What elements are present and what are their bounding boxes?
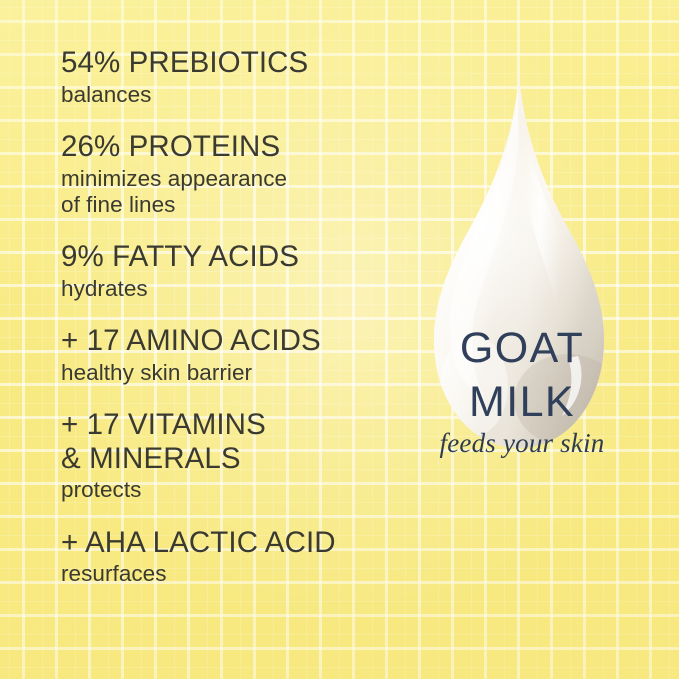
ingredient-item-vitamins-minerals: + 17 VITAMINS & MINERALS protects	[61, 408, 381, 504]
ingredient-item-proteins: 26% PROTEINS minimizes appearance of fin…	[61, 130, 381, 218]
ingredient-benefit: minimizes appearance of fine lines	[61, 166, 381, 219]
ingredient-item-aha-lactic-acid: + AHA LACTIC ACID resurfaces	[61, 526, 381, 588]
ingredient-benefit: hydrates	[61, 276, 381, 302]
ingredient-benefit: protects	[61, 477, 381, 503]
ingredient-headline: 26% PROTEINS	[61, 130, 381, 164]
droplet-icon	[372, 56, 672, 556]
ingredient-list: 54% PREBIOTICS balances 26% PROTEINS min…	[61, 46, 381, 588]
ingredient-item-prebiotics: 54% PREBIOTICS balances	[61, 46, 381, 108]
ingredient-headline: 54% PREBIOTICS	[61, 46, 381, 80]
ingredient-headline: + 17 VITAMINS & MINERALS	[61, 408, 381, 475]
ingredient-headline: 9% FATTY ACIDS	[61, 240, 381, 274]
infographic-canvas: 54% PREBIOTICS balances 26% PROTEINS min…	[0, 0, 679, 679]
ingredient-item-amino-acids: + 17 AMINO ACIDS healthy skin barrier	[61, 324, 381, 386]
milk-droplet: GOAT MILK feeds your skin	[372, 56, 672, 556]
droplet-shading	[372, 56, 672, 556]
ingredient-headline: + AHA LACTIC ACID	[61, 526, 381, 560]
ingredient-item-fatty-acids: 9% FATTY ACIDS hydrates	[61, 240, 381, 302]
ingredient-headline: + 17 AMINO ACIDS	[61, 324, 381, 358]
ingredient-benefit: balances	[61, 82, 381, 108]
ingredient-benefit: healthy skin barrier	[61, 360, 381, 386]
ingredient-benefit: resurfaces	[61, 561, 381, 587]
